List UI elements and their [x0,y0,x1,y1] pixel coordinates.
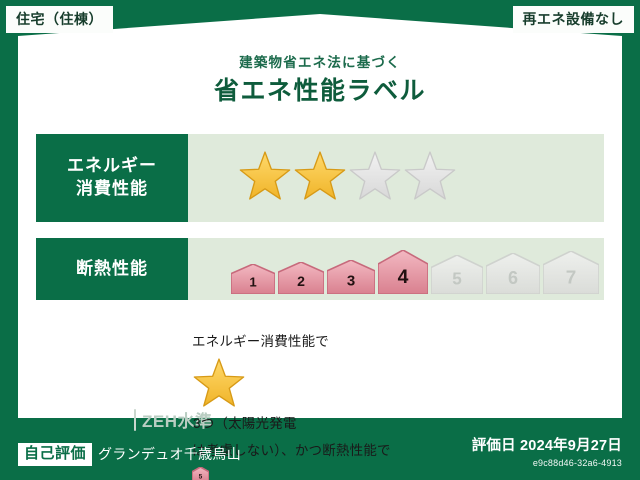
zeh-icon [134,409,136,431]
energy-performance-label: 住宅（住棟） 再エネ設備なし 建築物省エネ法に基づく 省エネ性能ラベル エネルギ… [0,0,640,480]
star-icon-2 [293,151,347,205]
label-serial-number: e9c88d46-32a6-4913 [472,458,622,468]
star-icon-3 [348,151,402,205]
insulation-grade-4: 4 [378,250,428,294]
title-block: 建築物省エネ法に基づく 省エネ性能ラベル [0,56,640,105]
star-icon-1 [238,151,292,205]
energy-label-line1: エネルギー [67,155,157,178]
insulation-performance-row: 断熱性能 1234567 [36,238,604,300]
svg-text:7: 7 [566,267,577,288]
insulation-grade-2: 2 [278,262,324,294]
label-subtitle: 建築物省エネ法に基づく [0,56,640,71]
insulation-grade-1: 1 [231,264,275,294]
energy-performance-value-cell [188,134,604,222]
insulation-grade-6: 6 [486,253,540,294]
energy-label-line2: 消費性能 [76,178,148,201]
insulation-label: 断熱性能 [76,258,148,281]
insulation-grade-3: 3 [327,260,375,294]
energy-performance-label-cell: エネルギー 消費性能 [36,134,188,222]
star-icon-4 [403,151,457,205]
footer-right: 評価日 2024年9月27日 e9c88d46-32a6-4913 [472,438,622,468]
building-type-tag: 住宅（住棟） [6,6,113,33]
insulation-performance-value-cell: 1234567 [188,238,604,300]
insulation-grade-7: 7 [543,251,599,294]
zeh-badge: ZEH水準 [36,407,186,432]
insulation-grade-scale: 1234567 [198,238,599,300]
svg-text:6: 6 [508,268,518,288]
svg-text:5: 5 [199,473,203,480]
energy-performance-row: エネルギー 消費性能 [36,134,604,222]
zeh-desc-part2: 3つ（太陽光発電 [193,416,297,431]
insulation-performance-label-cell: 断熱性能 [36,238,188,300]
self-evaluation-badge: 自己評価 [18,443,92,467]
page-title: 省エネ性能ラベル [0,78,640,106]
footer-left: 自己評価 グランデュオ千歳烏山 [18,443,241,467]
star-rating [198,151,457,205]
building-name: グランデュオ千歳烏山 [98,444,241,464]
svg-text:3: 3 [347,273,355,290]
star-icon [192,358,393,412]
house-grade-icon: 5 [192,467,393,480]
zeh-desc-part1: エネルギー消費性能で [192,334,329,349]
svg-text:4: 4 [398,266,409,288]
evaluation-date: 評価日 2024年9月27日 [472,438,622,455]
insulation-grade-5: 5 [431,255,483,294]
renewable-equipment-tag: 再エネ設備なし [513,6,635,33]
svg-text:5: 5 [452,268,462,288]
svg-text:1: 1 [249,275,256,290]
svg-text:2: 2 [297,273,305,289]
